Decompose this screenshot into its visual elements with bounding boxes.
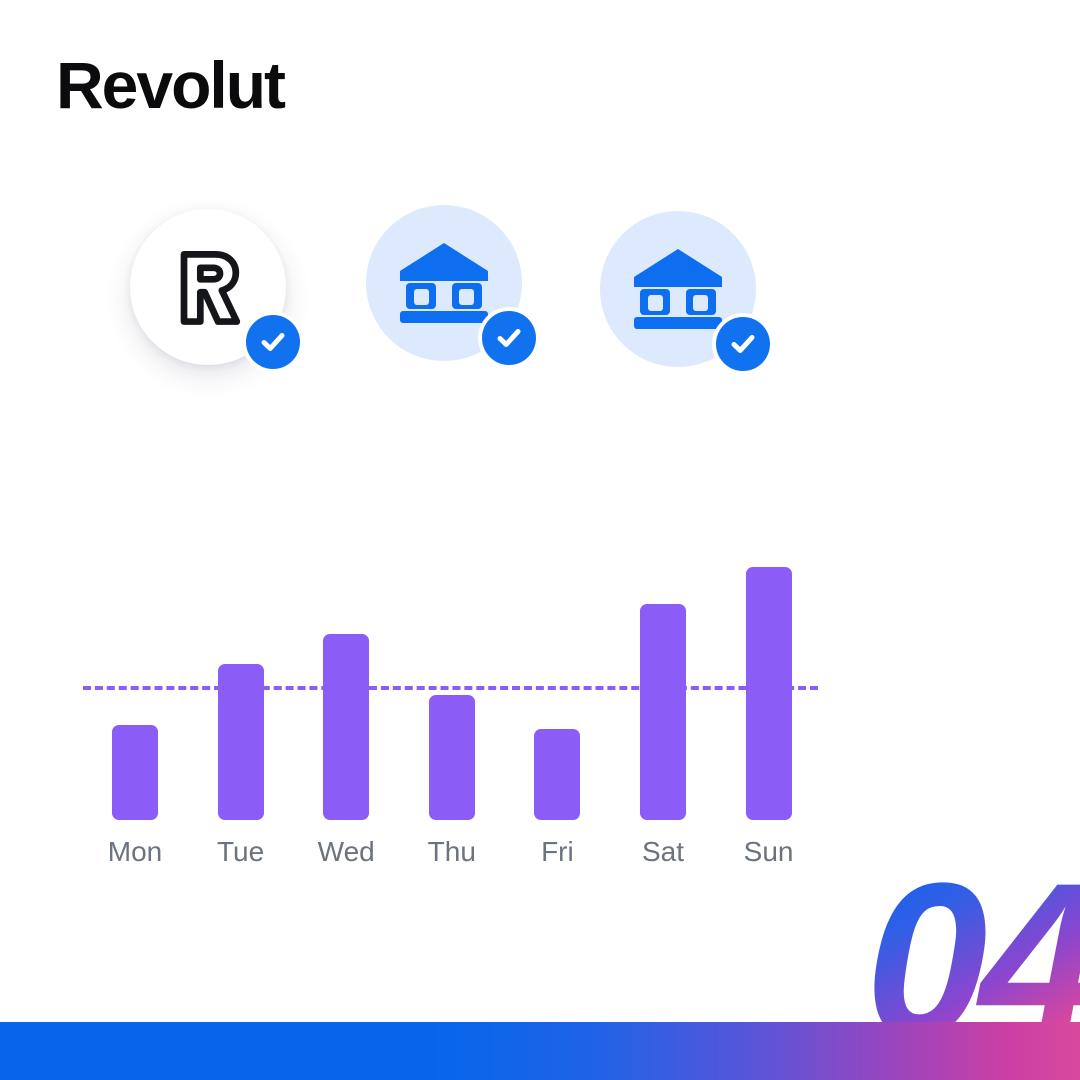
chart-x-label: Sat (618, 835, 708, 869)
slide-canvas: Revolut (0, 0, 1080, 1080)
chart-bar[interactable] (640, 604, 686, 820)
chart-x-label: Mon (90, 835, 180, 869)
chart-average-reference-line (83, 686, 818, 690)
chart-x-label: Tue (196, 835, 286, 869)
chart-bar[interactable] (323, 634, 369, 820)
chart-bar[interactable] (112, 725, 158, 820)
verified-check-badge (478, 307, 540, 369)
check-icon (246, 315, 300, 369)
verified-check-badge (712, 313, 774, 375)
check-icon (716, 317, 770, 371)
chart-bar[interactable] (429, 695, 475, 820)
account-badge-bank-2[interactable] (600, 211, 756, 367)
chart-x-label: Sun (724, 835, 814, 869)
chart-x-axis-labels: MonTueWedThuFriSatSun (83, 835, 823, 875)
chart-x-label: Wed (301, 835, 391, 869)
verified-check-badge (242, 311, 304, 373)
brand-logo: Revolut (56, 52, 284, 118)
chart-bar[interactable] (534, 729, 580, 820)
chart-plot-area (83, 550, 823, 825)
chart-x-label: Fri (512, 835, 602, 869)
account-badge-bank-1[interactable] (366, 205, 522, 361)
check-icon (482, 311, 536, 365)
weekly-spending-chart: MonTueWedThuFriSatSun (83, 550, 823, 890)
verified-accounts-row (130, 205, 790, 390)
chart-bar[interactable] (746, 567, 792, 820)
chart-x-label: Thu (407, 835, 497, 869)
footer-gradient-bar (0, 1022, 1080, 1080)
account-badge-revolut[interactable] (130, 209, 286, 365)
